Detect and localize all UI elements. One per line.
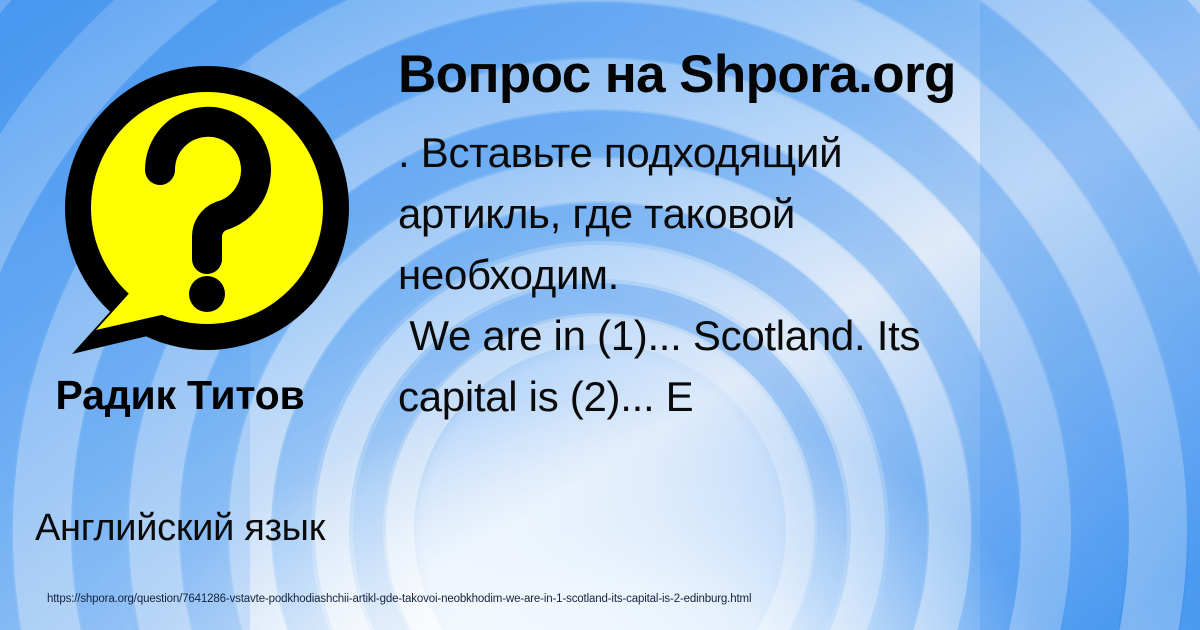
question-line: необходим. — [398, 244, 1098, 305]
source-url[interactable]: https://shpora.org/question/7641286-vsta… — [47, 592, 751, 606]
question-line: артикль, где таковой — [398, 183, 1098, 244]
page-title: Вопрос на Shpora.org — [398, 44, 1098, 106]
content-column: Вопрос на Shpora.org . Вставьте подходящ… — [398, 44, 1098, 427]
question-speech-bubble-icon — [48, 62, 360, 362]
shpora-question-card: Радик Титов Английский язык Вопрос на Sh… — [0, 0, 1200, 630]
question-line: We are in (1)... Scotland. Its — [398, 305, 1098, 366]
author-name: Радик Титов — [0, 372, 360, 419]
subject-label: Английский язык — [0, 506, 360, 550]
question-line: capital is (2)... E — [398, 366, 1098, 427]
question-text: . Вставьте подходящий артикль, где таков… — [398, 122, 1098, 427]
author-column: Радик Титов Английский язык — [0, 0, 382, 585]
question-line: . Вставьте подходящий — [398, 122, 1098, 183]
